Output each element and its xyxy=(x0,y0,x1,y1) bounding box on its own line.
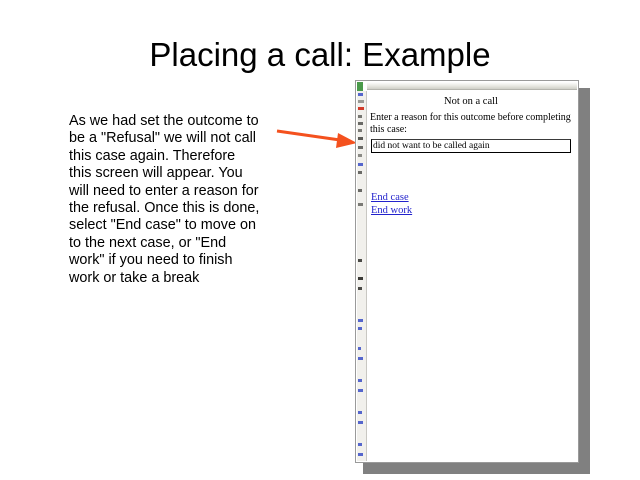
arrow-head xyxy=(336,133,357,148)
strip-fragment xyxy=(358,277,363,280)
strip-fragment xyxy=(358,379,362,382)
strip-fragment xyxy=(358,137,363,140)
page-title: Placing a call: Example xyxy=(0,36,640,74)
strip-fragment xyxy=(358,163,363,166)
panel-instruction-text: Enter a reason for this outcome before c… xyxy=(370,112,574,136)
strip-fragment xyxy=(358,259,362,262)
cropped-sidebar-strip xyxy=(357,91,367,461)
strip-fragment xyxy=(358,389,363,392)
end-work-link[interactable]: End work xyxy=(371,204,412,217)
strip-fragment xyxy=(358,129,362,132)
slide: Placing a call: Example As we had set th… xyxy=(0,0,640,480)
end-case-link[interactable]: End case xyxy=(371,191,412,204)
strip-fragment xyxy=(358,107,364,110)
strip-fragment xyxy=(358,443,362,446)
strip-fragment xyxy=(358,171,362,174)
strip-fragment xyxy=(358,347,361,350)
strip-fragment xyxy=(358,327,362,330)
panel-heading: Not on a call xyxy=(368,96,574,107)
strip-fragment xyxy=(358,115,362,118)
callout-arrow-icon xyxy=(272,120,364,154)
strip-fragment xyxy=(358,319,363,322)
reason-input[interactable] xyxy=(371,139,571,153)
strip-fragment xyxy=(358,154,362,157)
strip-fragment xyxy=(358,122,363,125)
captured-page-content: Not on a call Enter a reason for this ou… xyxy=(368,91,577,461)
embedded-screenshot-panel: Not on a call Enter a reason for this ou… xyxy=(355,80,579,463)
green-status-marker-icon xyxy=(357,82,363,91)
strip-fragment xyxy=(358,421,363,424)
strip-fragment xyxy=(358,189,362,192)
strip-fragment xyxy=(358,100,364,103)
strip-fragment xyxy=(358,146,363,149)
strip-fragment xyxy=(358,287,362,290)
window-chrome-bar xyxy=(367,82,577,90)
slide-body-text: As we had set the outcome to be a "Refus… xyxy=(69,113,261,287)
strip-fragment xyxy=(358,411,362,414)
arrow-shaft xyxy=(277,131,340,140)
strip-fragment xyxy=(358,357,363,360)
strip-fragment xyxy=(358,203,363,206)
strip-fragment xyxy=(358,453,363,456)
panel-actions: End case End work xyxy=(371,191,412,217)
strip-fragment xyxy=(358,93,363,96)
